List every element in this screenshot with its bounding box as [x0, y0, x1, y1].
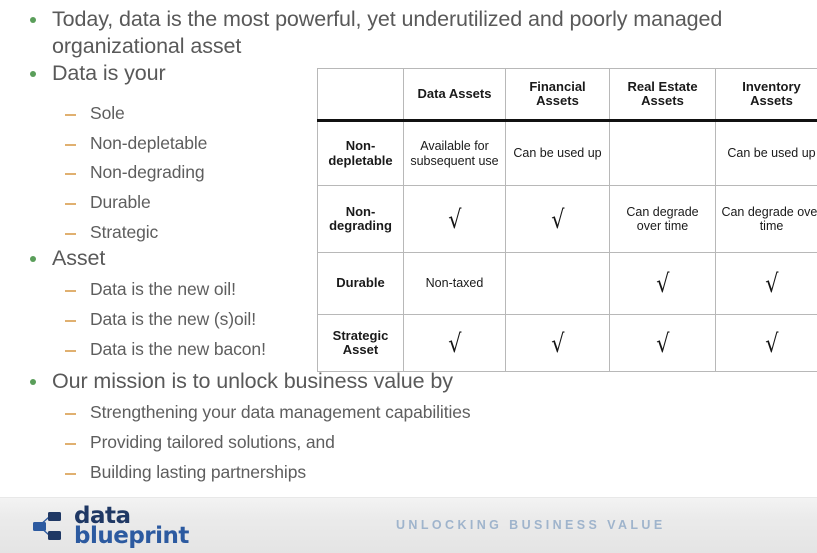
- sub-bullet-strengthening-text: Strengthening your data management capab…: [90, 402, 471, 422]
- dash-icon: [65, 413, 76, 415]
- asset-comparison-table-wrapper: Data Assets Financial Assets Real Estate…: [317, 68, 817, 361]
- sub-bullet-new-oil: Data is the new oil!: [0, 275, 236, 305]
- table-header-row: Data Assets Financial Assets Real Estate…: [318, 69, 817, 121]
- sub-bullet-durable: Durable: [0, 188, 151, 218]
- table-header-inventory-assets: Inventory Assets: [716, 69, 817, 121]
- cell-non-degrading-real-estate: Can degrade over time: [610, 186, 716, 253]
- cell-non-depletable-financial: Can be used up: [506, 121, 610, 186]
- bullet-asset-text: Asset: [52, 246, 105, 270]
- cell-strategic-data: √: [404, 315, 506, 372]
- check-icon: √: [655, 271, 669, 297]
- table-header-data-assets: Data Assets: [404, 69, 506, 121]
- cell-strategic-real-estate: √: [610, 315, 716, 372]
- logo-wordmark: data blueprint: [74, 506, 189, 546]
- blueprint-nodes-icon: [30, 509, 70, 543]
- sub-bullet-new-oil-text: Data is the new oil!: [90, 279, 236, 299]
- sub-bullet-strategic-text: Strategic: [90, 222, 158, 242]
- table-header-financial-assets: Financial Assets: [506, 69, 610, 121]
- table-row: Non-degrading √ √ Can degrade over time …: [318, 186, 817, 253]
- bullet-mission-text: Our mission is to unlock business value …: [52, 369, 453, 393]
- check-icon: √: [655, 330, 669, 356]
- asset-comparison-table: Data Assets Financial Assets Real Estate…: [317, 68, 817, 372]
- cell-durable-inventory: √: [716, 253, 817, 315]
- cell-strategic-financial: √: [506, 315, 610, 372]
- sub-bullet-building-text: Building lasting partnerships: [90, 462, 306, 482]
- dash-icon: [65, 443, 76, 445]
- table-corner-cell: [318, 69, 404, 121]
- table-header-real-estate-assets: Real Estate Assets: [610, 69, 716, 121]
- logo-word-blueprint: blueprint: [74, 526, 189, 546]
- bullet-dot-icon: [30, 379, 36, 385]
- bullet-today: Today, data is the most powerful, yet un…: [0, 6, 812, 60]
- cell-non-depletable-data: Available for subsequent use: [404, 121, 506, 186]
- bullet-today-text: Today, data is the most powerful, yet un…: [52, 7, 722, 58]
- sub-bullet-non-degrading: Non-degrading: [0, 158, 204, 188]
- cell-non-depletable-inventory: Can be used up: [716, 121, 817, 186]
- bullet-mission: Our mission is to unlock business value …: [0, 368, 453, 395]
- dash-icon: [65, 473, 76, 475]
- row-label-non-degrading: Non-degrading: [318, 186, 404, 253]
- row-label-durable: Durable: [318, 253, 404, 315]
- cell-non-degrading-data: √: [404, 186, 506, 253]
- slide-canvas: Today, data is the most powerful, yet un…: [0, 0, 817, 553]
- bullet-dot-icon: [30, 17, 36, 23]
- dash-icon: [65, 320, 76, 322]
- sub-bullet-strategic: Strategic: [0, 218, 158, 248]
- cell-strategic-inventory: √: [716, 315, 817, 372]
- sub-bullet-new-soil: Data is the new (s)oil!: [0, 305, 256, 335]
- sub-bullet-providing: Providing tailored solutions, and: [0, 428, 335, 458]
- sub-bullet-new-bacon-text: Data is the new bacon!: [90, 339, 266, 359]
- table-row: Non-depletable Available for subsequent …: [318, 121, 817, 186]
- cell-non-degrading-inventory: Can degrade over time: [716, 186, 817, 253]
- sub-bullet-sole-text: Sole: [90, 103, 125, 123]
- sub-bullet-non-degrading-text: Non-degrading: [90, 162, 204, 182]
- dash-icon: [65, 350, 76, 352]
- dash-icon: [65, 203, 76, 205]
- check-icon: √: [764, 271, 778, 297]
- check-icon: √: [764, 330, 778, 356]
- sub-bullet-sole: Sole: [0, 99, 125, 129]
- sub-bullet-durable-text: Durable: [90, 192, 151, 212]
- slide-footer: data blueprint UNLOCKING BUSINESS VALUE: [0, 497, 817, 553]
- check-icon: √: [550, 206, 564, 232]
- cell-non-depletable-real-estate: [610, 121, 716, 186]
- bullet-data-is-your-text: Data is your: [52, 61, 166, 85]
- cell-durable-real-estate: √: [610, 253, 716, 315]
- sub-bullet-building: Building lasting partnerships: [0, 458, 306, 488]
- row-label-non-depletable: Non-depletable: [318, 121, 404, 186]
- cell-durable-financial: [506, 253, 610, 315]
- sub-bullet-non-depletable: Non-depletable: [0, 129, 207, 159]
- data-blueprint-logo: data blueprint: [30, 506, 189, 546]
- sub-bullet-strengthening: Strengthening your data management capab…: [0, 398, 471, 428]
- row-label-strategic-asset: Strategic Asset: [318, 315, 404, 372]
- bullet-data-is-your: Data is your: [0, 60, 166, 87]
- sub-bullet-providing-text: Providing tailored solutions, and: [90, 432, 335, 452]
- sub-bullet-new-bacon: Data is the new bacon!: [0, 335, 266, 365]
- cell-non-degrading-financial: √: [506, 186, 610, 253]
- check-icon: √: [550, 330, 564, 356]
- table-row: Durable Non-taxed √ √: [318, 253, 817, 315]
- check-icon: √: [447, 206, 461, 232]
- dash-icon: [65, 173, 76, 175]
- footer-tagline: UNLOCKING BUSINESS VALUE: [396, 518, 666, 532]
- dash-icon: [65, 290, 76, 292]
- check-icon: √: [447, 330, 461, 356]
- bullet-dot-icon: [30, 256, 36, 262]
- table-row: Strategic Asset √ √ √ √: [318, 315, 817, 372]
- bullet-asset: Asset: [0, 245, 105, 272]
- sub-bullet-non-depletable-text: Non-depletable: [90, 133, 207, 153]
- dash-icon: [65, 114, 76, 116]
- dash-icon: [65, 233, 76, 235]
- dash-icon: [65, 144, 76, 146]
- sub-bullet-new-soil-text: Data is the new (s)oil!: [90, 309, 256, 329]
- bullet-dot-icon: [30, 71, 36, 77]
- cell-durable-data: Non-taxed: [404, 253, 506, 315]
